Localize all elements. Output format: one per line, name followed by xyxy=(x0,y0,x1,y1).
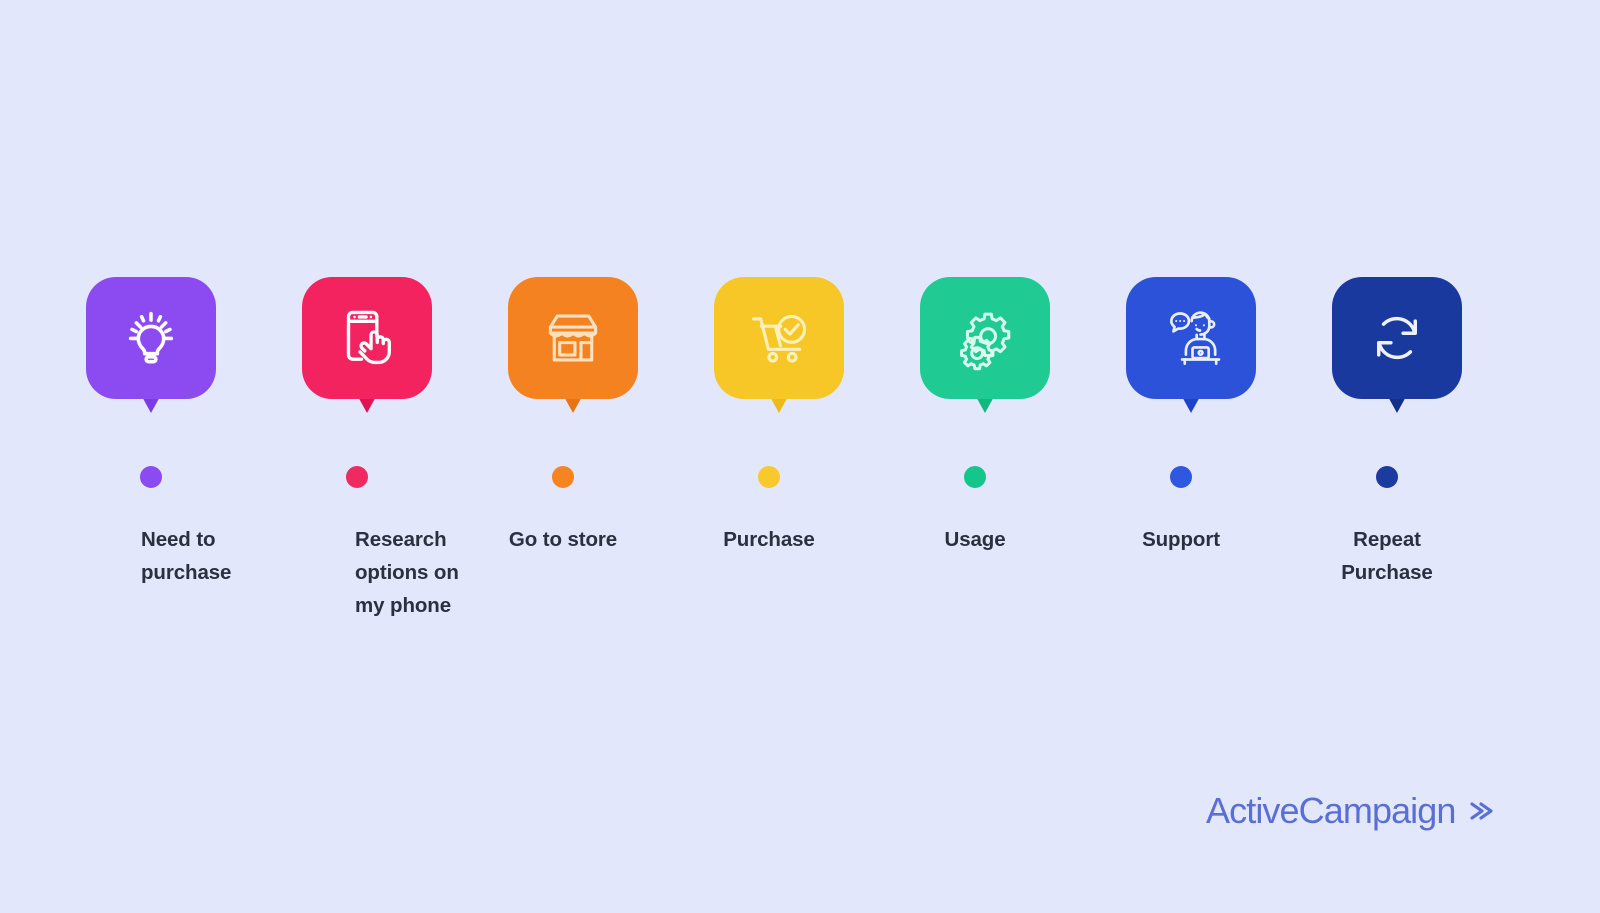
journey-card-repeat-purchase[interactable] xyxy=(1332,277,1462,412)
step-label-repeat-purchase: Repeat Purchase xyxy=(1267,523,1507,589)
brand-logo: ActiveCampaign xyxy=(1206,793,1495,829)
step-label-support: Support xyxy=(1061,523,1301,556)
step-label-need-to-purchase: Need to purchase xyxy=(141,523,331,589)
card-body xyxy=(508,277,638,399)
step-label-go-to-store: Go to store xyxy=(443,523,683,556)
timeline-dot-repeat-purchase xyxy=(1376,466,1398,488)
lightbulb-icon xyxy=(114,301,188,375)
card-body xyxy=(920,277,1050,399)
timeline-dot-purchase xyxy=(758,466,780,488)
journey-card-purchase[interactable] xyxy=(714,277,844,412)
timeline-dot-go-to-store xyxy=(552,466,574,488)
card-body xyxy=(1332,277,1462,399)
storefront-icon xyxy=(536,301,610,375)
journey-timeline xyxy=(0,455,1600,505)
step-label-usage: Usage xyxy=(855,523,1095,556)
journey-canvas: Need to purchase Research options on my … xyxy=(0,0,1600,913)
card-body xyxy=(302,277,432,399)
card-body xyxy=(1126,277,1256,399)
timeline-dot-support xyxy=(1170,466,1192,488)
double-chevron-right-icon xyxy=(1465,796,1495,826)
timeline-track xyxy=(0,455,1600,505)
timeline-dot-research-options-on-my-phone xyxy=(346,466,368,488)
step-label-purchase: Purchase xyxy=(649,523,889,556)
journey-labels: Need to purchase Research options on my … xyxy=(0,523,1600,643)
timeline-dot-need-to-purchase xyxy=(140,466,162,488)
support-agent-icon xyxy=(1154,301,1228,375)
journey-card-go-to-store[interactable] xyxy=(508,277,638,412)
gears-icon xyxy=(948,301,1022,375)
journey-card-need-to-purchase[interactable] xyxy=(86,277,216,412)
brand-name: ActiveCampaign xyxy=(1206,793,1456,829)
card-body xyxy=(714,277,844,399)
journey-card-research-options-on-my-phone[interactable] xyxy=(302,277,432,412)
refresh-cycle-icon xyxy=(1360,301,1434,375)
cart-check-icon xyxy=(742,301,816,375)
card-body xyxy=(86,277,216,399)
journey-icon-cards xyxy=(86,277,1514,412)
phone-tap-icon xyxy=(330,301,404,375)
timeline-dot-usage xyxy=(964,466,986,488)
journey-card-usage[interactable] xyxy=(920,277,1050,412)
journey-card-support[interactable] xyxy=(1126,277,1256,412)
